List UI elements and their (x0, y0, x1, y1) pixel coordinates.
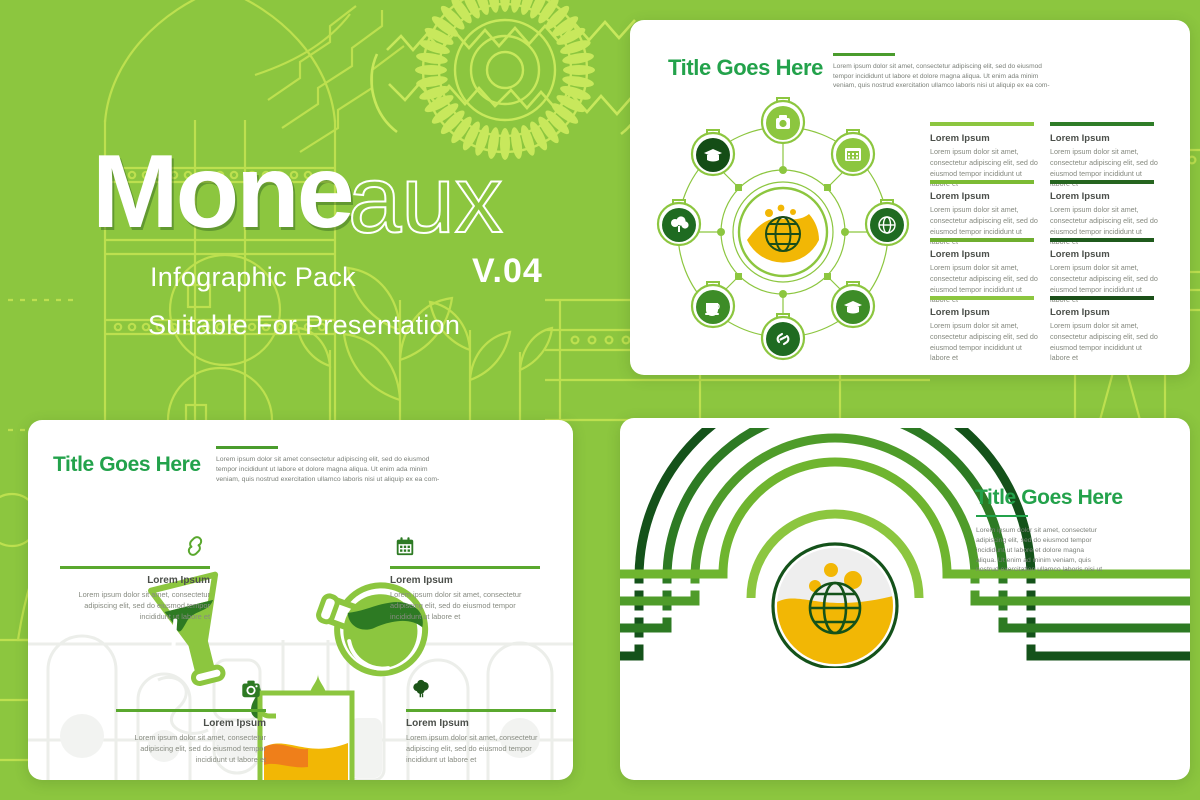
caption-body: Lorem ipsum dolor sit amet, consectetur … (390, 589, 540, 622)
slide-circular-infographic[interactable]: Title Goes Here Lorem ipsum dolor sit am… (630, 20, 1190, 375)
caption-item: Lorem Ipsum Lorem ipsum dolor sit amet, … (60, 535, 210, 622)
flask-node-bottom-left (692, 282, 734, 327)
block-heading: Lorem Ipsum (930, 307, 1040, 318)
caption-item: Lorem Ipsum Lorem ipsum dolor sit amet, … (406, 678, 556, 765)
slide-arc-infographic[interactable]: Title Goes Here Lorem ipsum dolor sit am… (620, 418, 1190, 780)
text-block: Lorem Ipsum Lorem ipsum dolor sit amet, … (930, 296, 1040, 364)
caption-icon-wrap (390, 535, 540, 561)
accent-bar (1050, 296, 1154, 300)
title-rule (976, 515, 1028, 517)
caption-body: Lorem ipsum dolor sit amet, consectetur … (116, 732, 266, 765)
slide-pouring-flasks[interactable]: Title Goes Here Lorem ipsum dolor sit am… (28, 420, 573, 780)
flask-node-left (658, 200, 700, 245)
caption-item: Lorem Ipsum Lorem ipsum dolor sit amet, … (116, 678, 266, 765)
accent-bar (60, 566, 210, 569)
text-block: Lorem Ipsum Lorem ipsum dolor sit amet, … (1050, 296, 1160, 364)
block-heading: Lorem Ipsum (930, 133, 1040, 144)
circular-node-diagram (648, 92, 918, 367)
page-title: Title Goes Here (53, 453, 201, 477)
block-body: Lorem ipsum dolor sit amet, consectetur … (1050, 321, 1160, 364)
flask-node-right (866, 200, 908, 245)
accent-bar (930, 296, 1034, 300)
caption-icon-wrap (60, 535, 210, 561)
caption-heading: Lorem Ipsum (390, 575, 540, 586)
intro-paragraph: Lorem ipsum dolor sit amet, consectetur … (976, 526, 1104, 575)
caption-body: Lorem ipsum dolor sit amet, consectetur … (60, 589, 210, 622)
accent-bar (930, 180, 1034, 184)
brand-wordmark: Mone aux (92, 140, 562, 252)
tree-icon (410, 678, 432, 700)
accent-bar (390, 566, 540, 569)
flask-node-bottom (762, 314, 804, 359)
block-heading: Lorem Ipsum (1050, 249, 1160, 260)
brand-bold-text: Mone (92, 140, 352, 244)
caption-heading: Lorem Ipsum (60, 575, 210, 586)
caption-heading: Lorem Ipsum (406, 718, 556, 729)
tagline-secondary: Suitable For Presentation (148, 310, 460, 341)
accent-bar (930, 122, 1034, 126)
flask-node-top-left (692, 130, 734, 175)
title-rule (833, 53, 895, 56)
accent-bar (406, 709, 556, 712)
camera-icon (240, 678, 262, 700)
version-label: V.04 (472, 252, 543, 291)
block-heading: Lorem Ipsum (930, 191, 1040, 202)
title-rule (216, 446, 278, 449)
center-globe-node (739, 188, 827, 276)
accent-bar (930, 238, 1034, 242)
center-globe-circle (773, 544, 897, 668)
poster-stage: Mone aux V.04 Infographic Pack Suitable … (0, 0, 1200, 800)
block-heading: Lorem Ipsum (1050, 307, 1160, 318)
accent-bar (1050, 238, 1154, 242)
intro-paragraph: Lorem ipsum dolor sit amet, consectetur … (833, 62, 1051, 91)
accent-bar (1050, 122, 1154, 126)
caption-heading: Lorem Ipsum (116, 718, 266, 729)
cover-text-block: Mone aux V.04 Infographic Pack Suitable … (92, 140, 562, 252)
caption-icon-wrap (406, 678, 556, 704)
caption-item: Lorem Ipsum Lorem ipsum dolor sit amet, … (390, 535, 540, 622)
block-heading: Lorem Ipsum (1050, 191, 1160, 202)
flask-node-bottom-right (832, 282, 874, 327)
accent-bar (1050, 180, 1154, 184)
brand-outline-text: aux (348, 148, 503, 252)
concentric-arc-illustration (620, 428, 1190, 668)
page-title: Title Goes Here (668, 55, 823, 81)
link-icon (184, 535, 206, 557)
caption-icon-wrap (116, 678, 266, 704)
caption-body: Lorem ipsum dolor sit amet, consectetur … (406, 732, 556, 765)
tagline-primary: Infographic Pack (150, 262, 356, 293)
flask-node-top (762, 98, 804, 143)
intro-paragraph: Lorem ipsum dolor sit amet consectetur a… (216, 455, 444, 485)
accent-bar (116, 709, 266, 712)
block-body: Lorem ipsum dolor sit amet, consectetur … (930, 321, 1040, 364)
page-title: Title Goes Here (975, 486, 1123, 510)
block-heading: Lorem Ipsum (1050, 133, 1160, 144)
block-heading: Lorem Ipsum (930, 249, 1040, 260)
calendar-icon (394, 535, 416, 557)
flask-node-top-right (832, 130, 874, 175)
